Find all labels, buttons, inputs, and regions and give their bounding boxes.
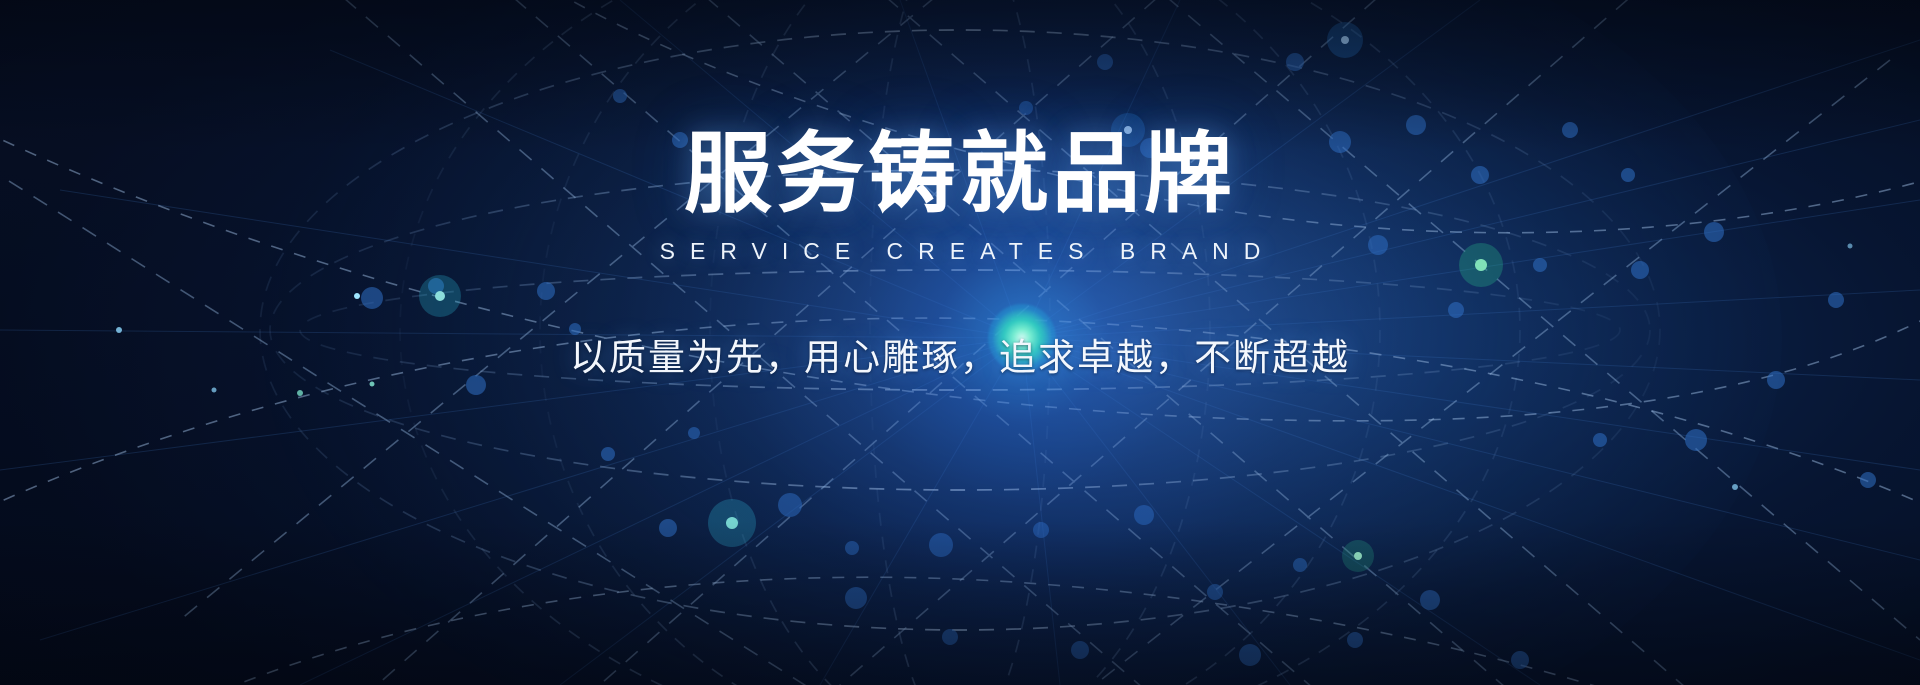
hero-content: 服务铸就品牌 SERVICE CREATES BRAND 以质量为先，用心雕琢，… (0, 0, 1920, 685)
hero-tagline: 以质量为先，用心雕琢，追求卓越，不断超越 (570, 327, 1350, 381)
hero-banner: 服务铸就品牌 SERVICE CREATES BRAND 以质量为先，用心雕琢，… (0, 0, 1920, 685)
hero-subtitle-english: SERVICE CREATES BRAND (645, 238, 1276, 265)
hero-headline: 服务铸就品牌 (684, 128, 1236, 220)
